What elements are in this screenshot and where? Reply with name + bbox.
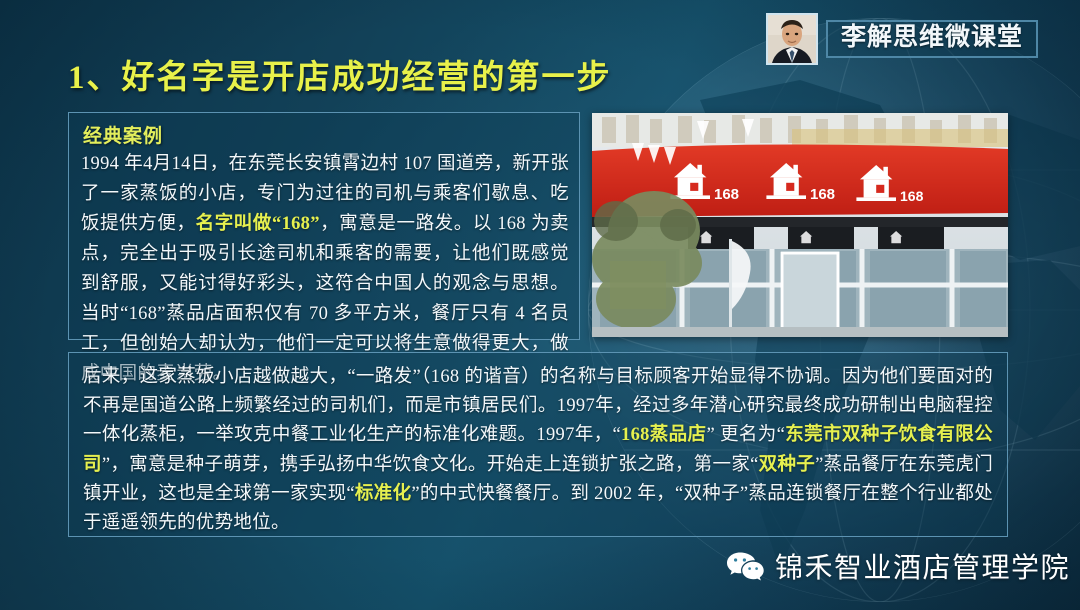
header-badge: 李解思维微课堂 [766,13,1038,65]
wechat-icon [726,551,764,582]
presenter-avatar [766,13,818,65]
text-run: ” 更名为“ [706,425,785,445]
badge-box: 李解思维微课堂 [826,20,1038,58]
svg-text:168: 168 [714,186,739,203]
followup-body: 后来，这家蒸饭小店越做越大，“一路发”（168 的谐音）的名称与目标顾客开始显得… [83,363,993,538]
text-run: ”，寓意是种子萌芽，携手弘扬中华饮食文化。开始走上连锁扩张之路，第一家“ [102,455,759,475]
badge-label: 李解思维微课堂 [841,25,1023,51]
highlighted-text-run: 名字叫做“168” [196,214,320,234]
case-study-heading: 经典案例 [83,121,569,148]
storefront-photo: 168 168 168 [592,113,1008,337]
page-title: 1、好名字是开店成功经营的第一步 [68,59,612,99]
footer-brand-label: 锦禾智业酒店管理学院 [775,546,1070,586]
footer-brand: 锦禾智业酒店管理学院 [726,546,1070,586]
slide-canvas: 李解思维微课堂 1、好名字是开店成功经营的第一步 经典案例 1994 年4月14… [0,0,1080,610]
svg-text:168: 168 [900,188,924,204]
highlighted-text-run: 168蒸品店 [621,425,706,445]
followup-panel: 后来，这家蒸饭小店越做越大，“一路发”（168 的谐音）的名称与目标顾客开始显得… [68,352,1008,537]
case-study-panel: 经典案例 1994 年4月14日，在东莞长安镇霄边村 107 国道旁，新开张了一… [68,112,580,340]
svg-text:168: 168 [810,186,835,203]
highlighted-text-run: 双种子 [759,455,815,475]
highlighted-text-run: 标准化 [355,484,411,504]
